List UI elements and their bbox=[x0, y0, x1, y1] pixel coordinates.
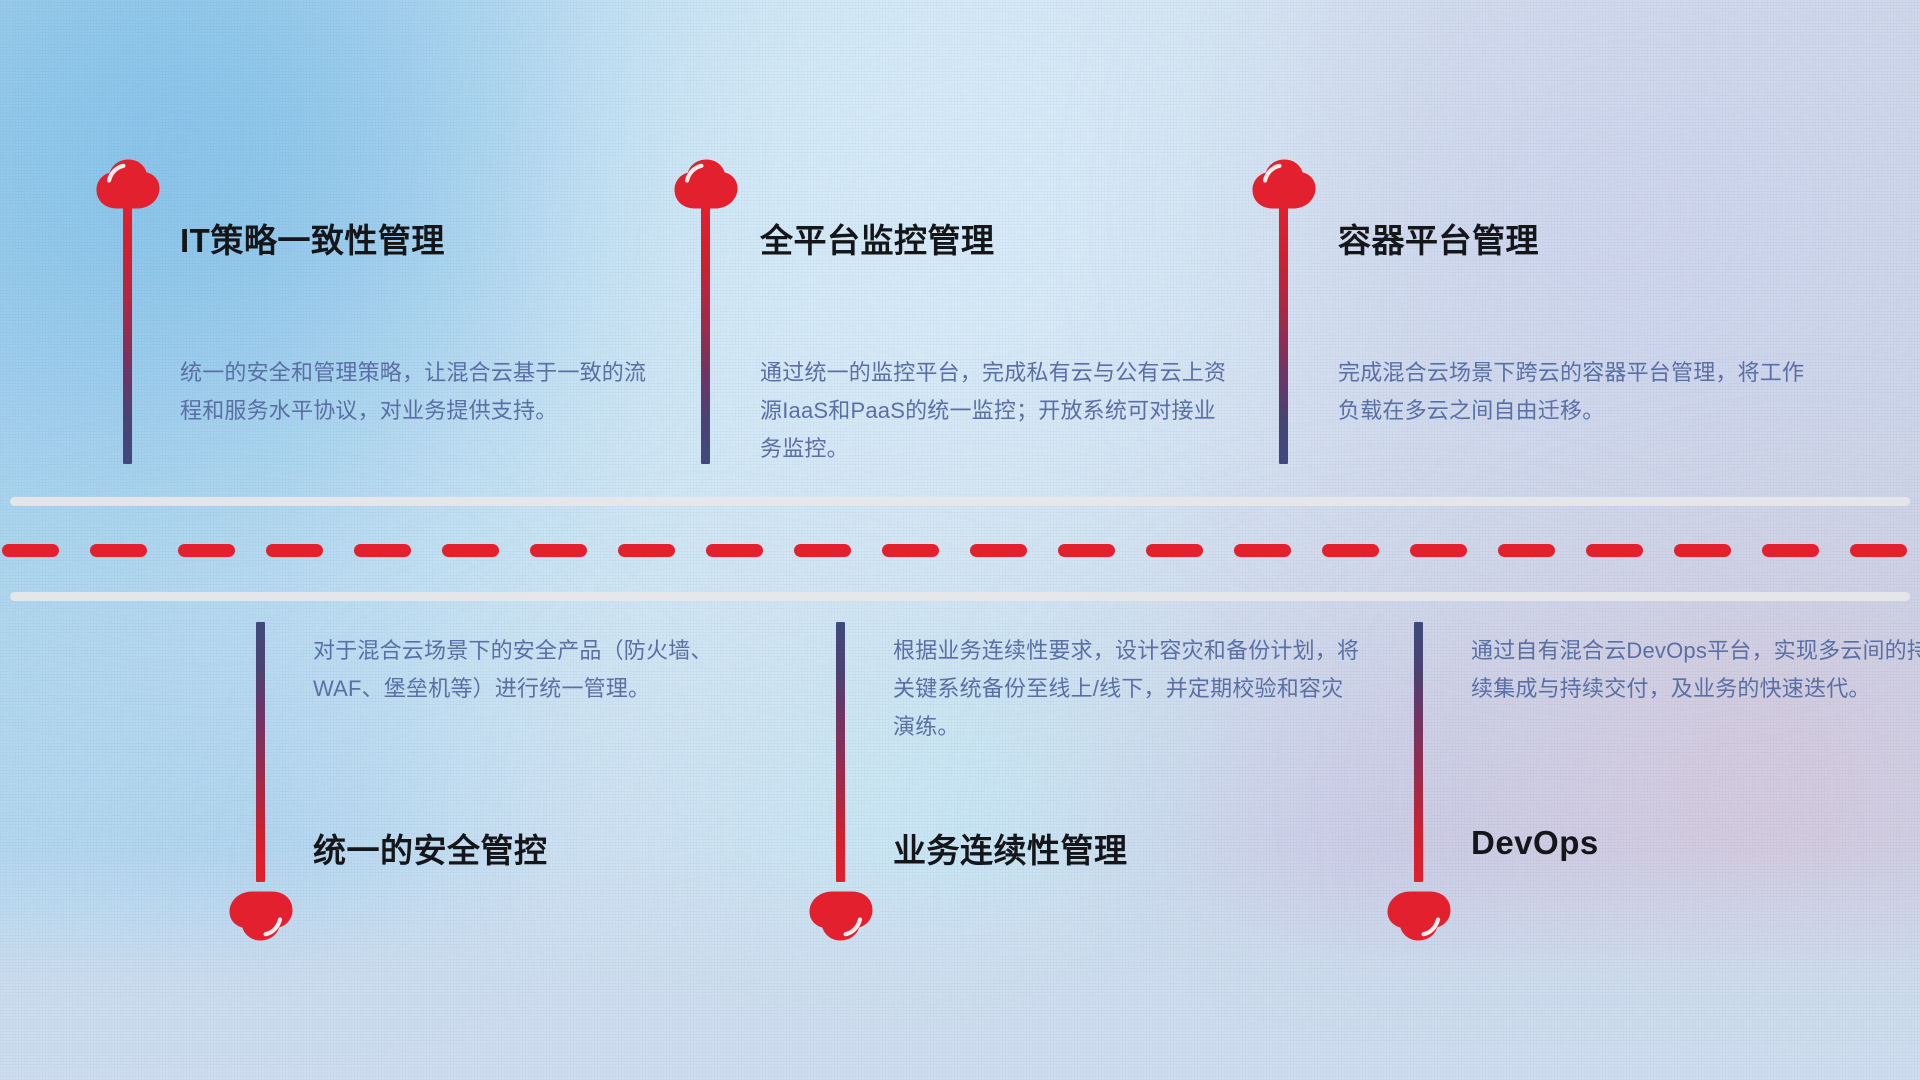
divider-dash bbox=[1674, 544, 1731, 557]
divider-dash bbox=[266, 544, 323, 557]
divider-dash bbox=[530, 544, 587, 557]
card-heading: 全平台监控管理 bbox=[760, 214, 995, 262]
card-heading: 统一的安全管控 bbox=[313, 824, 548, 872]
connector-stem bbox=[1414, 622, 1423, 882]
card-body: 完成混合云场景下跨云的容器平台管理，将工作负载在多云之间自由迁移。 bbox=[1338, 354, 1808, 430]
divider-dash bbox=[354, 544, 411, 557]
cloud-icon bbox=[1386, 890, 1452, 942]
divider-dash bbox=[794, 544, 851, 557]
divider-dash bbox=[90, 544, 147, 557]
cloud-icon bbox=[228, 890, 294, 942]
divider-dash bbox=[1498, 544, 1555, 557]
infographic-canvas: IT策略一致性管理 统一的安全和管理策略，让混合云基于一致的流程和服务水平协议，… bbox=[0, 0, 1920, 1080]
divider-dash bbox=[618, 544, 675, 557]
divider-dash bbox=[1322, 544, 1379, 557]
card-heading: 业务连续性管理 bbox=[893, 824, 1128, 872]
connector-stem bbox=[836, 622, 845, 882]
card-body: 通过统一的监控平台，完成私有云与公有云上资源IaaS和PaaS的统一监控；开放系… bbox=[760, 354, 1230, 468]
card-heading: IT策略一致性管理 bbox=[180, 214, 445, 262]
connector-stem bbox=[256, 622, 265, 882]
connector-stem bbox=[701, 206, 710, 464]
card-heading: DevOps bbox=[1471, 824, 1599, 862]
connector-stem bbox=[123, 206, 132, 464]
divider-dash bbox=[1762, 544, 1819, 557]
divider-dash bbox=[178, 544, 235, 557]
cloud-icon bbox=[673, 158, 739, 210]
connector-stem bbox=[1279, 206, 1288, 464]
card-heading: 容器平台管理 bbox=[1338, 214, 1539, 262]
divider-dash bbox=[1234, 544, 1291, 557]
divider-dash bbox=[1146, 544, 1203, 557]
divider-rail-bottom bbox=[10, 592, 1910, 601]
card-body: 通过自有混合云DevOps平台，实现多云间的持续集成与持续交付，及业务的快速迭代… bbox=[1471, 632, 1920, 708]
divider-dash bbox=[1410, 544, 1467, 557]
cloud-icon bbox=[1251, 158, 1317, 210]
divider-dash bbox=[882, 544, 939, 557]
card-body: 根据业务连续性要求，设计容灾和备份计划，将关键系统备份至线上/线下，并定期校验和… bbox=[893, 632, 1363, 746]
divider-dash bbox=[1850, 544, 1907, 557]
card-body: 统一的安全和管理策略，让混合云基于一致的流程和服务水平协议，对业务提供支持。 bbox=[180, 354, 650, 430]
divider-dash bbox=[706, 544, 763, 557]
card-body: 对于混合云场景下的安全产品（防火墙、WAF、堡垒机等）进行统一管理。 bbox=[313, 632, 783, 708]
divider-dash bbox=[2, 544, 59, 557]
cloud-icon bbox=[808, 890, 874, 942]
divider-dashed-line bbox=[0, 543, 1920, 557]
divider-dash bbox=[1586, 544, 1643, 557]
divider-dash bbox=[970, 544, 1027, 557]
divider-dash bbox=[1058, 544, 1115, 557]
divider-rail-top bbox=[10, 497, 1910, 506]
cloud-icon bbox=[95, 158, 161, 210]
divider-dash bbox=[442, 544, 499, 557]
